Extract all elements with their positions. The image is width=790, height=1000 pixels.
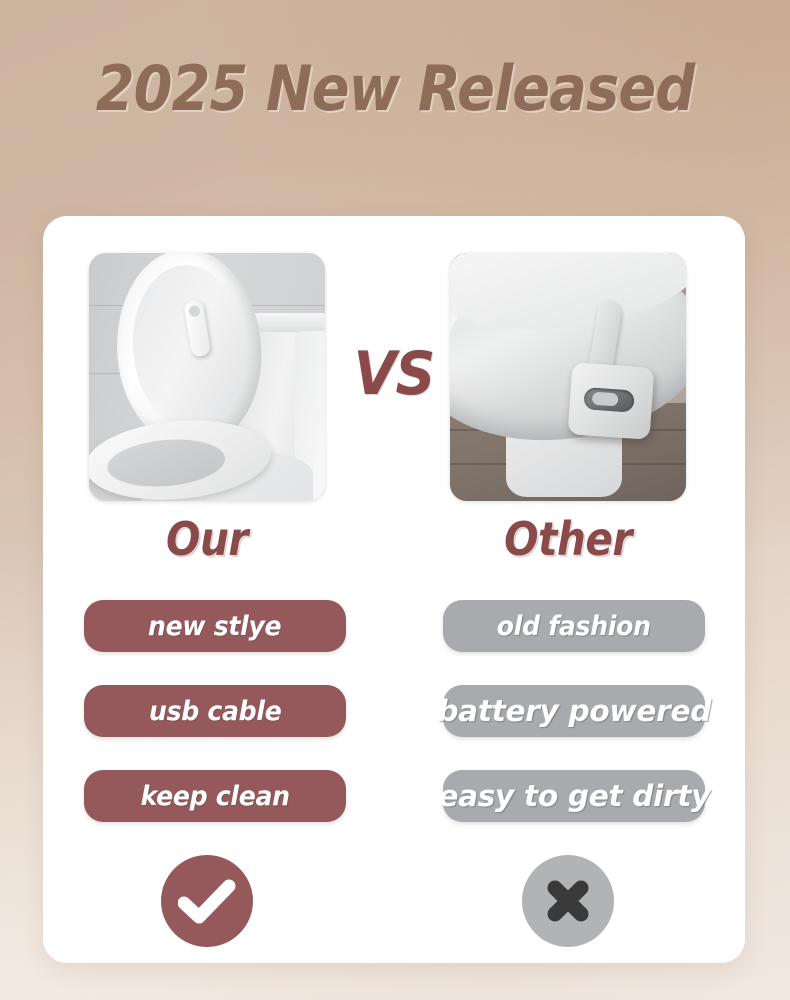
verdict-row <box>43 855 745 955</box>
seat-opening <box>105 435 227 491</box>
column-headings: Our Other <box>43 512 745 574</box>
feature-pill-keep-clean: keep clean <box>84 770 346 822</box>
check-icon <box>178 877 236 925</box>
feature-label: old fashion <box>497 611 651 642</box>
page-title: 2025 New Released <box>40 56 751 121</box>
feature-pill-old-fashion: old fashion <box>443 600 705 652</box>
other-feature-list: old fashion battery powered easy to get … <box>443 600 705 855</box>
feature-label: keep clean <box>140 781 289 812</box>
feature-label: new stlye <box>148 611 281 642</box>
vs-label: VS <box>71 339 717 409</box>
sensor-lens <box>188 305 201 318</box>
feature-pill-usb-cable: usb cable <box>84 685 346 737</box>
comparison-card: VS Our Other new stlye usb cable keep cl… <box>43 216 745 963</box>
other-verdict-badge <box>522 855 614 947</box>
feature-pill-battery-powered: battery powered <box>443 685 705 737</box>
other-column-heading: Other <box>464 512 672 566</box>
our-verdict-badge <box>161 855 253 947</box>
feature-pill-easy-to-get-dirty: easy to get dirty <box>443 770 705 822</box>
feature-label: easy to get dirty <box>438 779 710 813</box>
our-feature-list: new stlye usb cable keep clean <box>84 600 346 855</box>
our-column-heading: Our <box>103 512 311 566</box>
feature-pill-new-style: new stlye <box>84 600 346 652</box>
cross-icon <box>544 877 592 925</box>
feature-label: battery powered <box>437 694 711 728</box>
photo-row: VS <box>43 253 745 503</box>
feature-label: usb cable <box>149 696 281 727</box>
